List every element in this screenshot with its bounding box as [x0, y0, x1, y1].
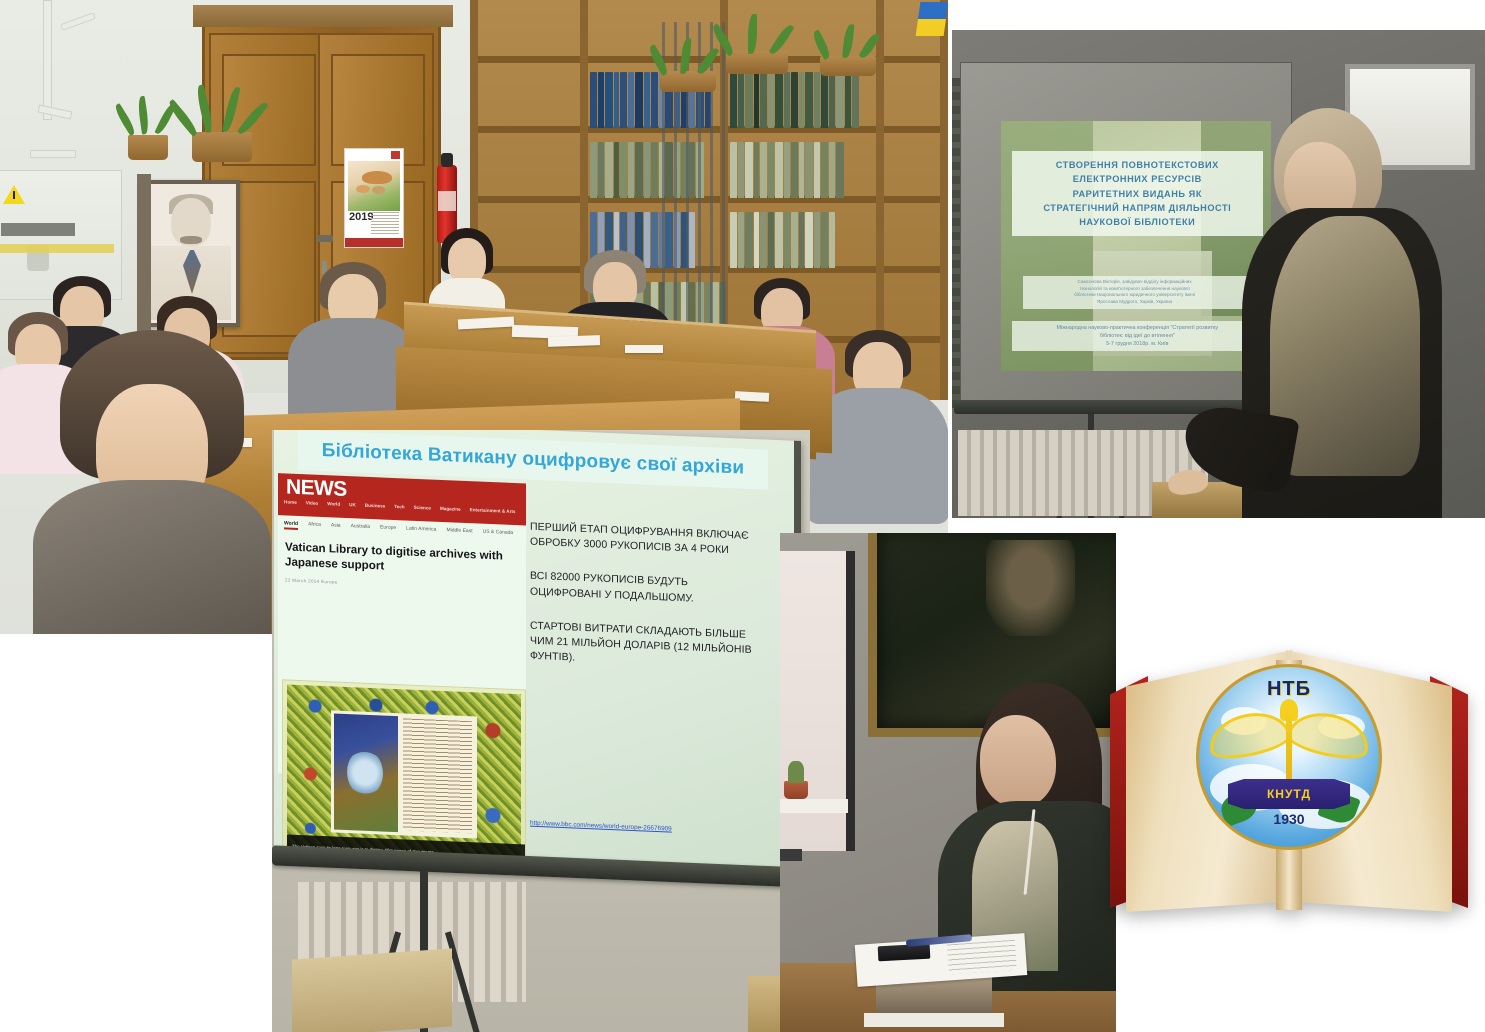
- yellow-wall-stripe: [0, 244, 114, 253]
- table: [292, 948, 452, 1032]
- subnav-item-europe[interactable]: Europe: [380, 524, 396, 534]
- extinguisher-valve: [441, 153, 453, 167]
- ntb-knutd-logo: НТБ КНУТД 1930: [1108, 624, 1470, 932]
- window-latch[interactable]: [780, 849, 802, 861]
- news-primary-nav: Home Video World UK Business Tech Scienc…: [284, 499, 522, 514]
- potted-plant: [726, 20, 788, 74]
- bbc-news-screenshot: NEWS Home Video World UK Business Tech S…: [278, 473, 526, 783]
- news-byline: 22 March 2014 Europe: [285, 577, 338, 584]
- succulent-plant: [788, 761, 804, 783]
- potted-plant: [128, 100, 168, 160]
- subnav-item[interactable]: Asia: [331, 522, 341, 531]
- slide-title-line: СТРАТЕГІЧНИЙ НАПРЯМ ДІЯЛЬНОСТІ: [1016, 201, 1259, 215]
- potted-plant: [820, 28, 876, 76]
- plant-pot: [820, 56, 876, 76]
- wall-pipe: [43, 0, 52, 120]
- photo-collage: 2019: [0, 0, 1485, 1032]
- window: [780, 551, 855, 851]
- door-handle[interactable]: [317, 235, 333, 242]
- subnav-item[interactable]: Middle East: [446, 527, 472, 537]
- portrait-moustache: [180, 236, 202, 244]
- nav-item[interactable]: Home: [284, 499, 297, 505]
- slide-title-line: НАУКОВОЇ БІБЛІОТЕКИ: [1016, 215, 1259, 229]
- painting-figure: [986, 540, 1075, 636]
- projected-slide: СТВОРЕННЯ ПОВНОТЕКСТОВИХ ЕЛЕКТРОННИХ РЕС…: [1001, 121, 1271, 371]
- book-row: [730, 72, 870, 128]
- door-lintel: [193, 5, 453, 27]
- slide-paragraph: ПЕРШИЙ ЕТАП ОЦИФРУВАННЯ ВКЛЮЧАЄ ОБРОБКУ …: [530, 520, 760, 560]
- subnav-item[interactable]: US & Canada: [483, 529, 514, 539]
- person-foreground: [36, 330, 268, 634]
- plant-pot: [726, 51, 788, 74]
- manuscript-page: [331, 711, 476, 838]
- kitten-illustration: [356, 185, 370, 193]
- slide-body-text: ПЕРШИЙ ЕТАП ОЦИФРУВАННЯ ВКЛЮЧАЄ ОБРОБКУ …: [530, 520, 760, 693]
- plant-leaf: [680, 38, 691, 75]
- subnav-item[interactable]: Latin America: [406, 525, 436, 535]
- news-logo: NEWS: [286, 475, 347, 502]
- listener-face: [980, 715, 1056, 807]
- library-emblem: НТБ КНУТД 1930: [1196, 664, 1382, 850]
- emblem-ntb-text: НТБ: [1199, 678, 1379, 701]
- plant-leaf: [137, 96, 150, 135]
- plant-pot: [192, 132, 252, 162]
- slide-author-block: Самсонова Вікторія, завідувач відділу ін…: [1023, 276, 1247, 309]
- photo-speaker-projector: СТВОРЕННЯ ПОВНОТЕКСТОВИХ ЕЛЕКТРОННИХ РЕС…: [952, 30, 1485, 518]
- paper-sheet: [625, 345, 663, 353]
- slide-paragraph: СТАРТОВІ ВИТРАТИ СКЛАДАЮТЬ БІЛЬШЕ ЧИМ 21…: [530, 619, 760, 674]
- paper-text-lines: [947, 940, 1017, 975]
- photo-listener: [780, 533, 1116, 1032]
- subnav-item[interactable]: Australia: [351, 523, 370, 533]
- slide-title: СТВОРЕННЯ ПОВНОТЕКСТОВИХ ЕЛЕКТРОННИХ РЕС…: [1012, 151, 1263, 236]
- kitten-illustration: [372, 186, 385, 194]
- manuscript-miniature: [334, 713, 398, 832]
- manuscript-image: The Vatican says its long-term aim is to…: [282, 679, 526, 869]
- slide-title-line: СТВОРЕННЯ ПОВНОТЕКСТОВИХ: [1016, 158, 1259, 172]
- emblem-ribbon-text: КНУТД: [1228, 779, 1350, 810]
- book-row: [730, 142, 870, 198]
- nav-item[interactable]: World: [327, 501, 340, 507]
- window-sill: [780, 799, 848, 813]
- slide-conference-line: 5-7 грудня 2018р. м. Київ: [1016, 340, 1259, 348]
- potted-plant: [192, 90, 252, 162]
- nav-item[interactable]: Business: [365, 503, 385, 509]
- slide-conference-line: Міжнародна науково-практична конференція…: [1016, 324, 1259, 332]
- emblem-ribbon: КНУТД: [1228, 779, 1350, 810]
- nav-item[interactable]: Tech: [394, 504, 404, 509]
- open-book-graphic: НТБ КНУТД 1930: [1108, 624, 1470, 932]
- nav-item[interactable]: Science: [414, 505, 431, 511]
- plant-pot: [660, 71, 716, 92]
- nav-item[interactable]: Magazine: [440, 506, 461, 512]
- subnav-item[interactable]: Africa: [308, 521, 321, 531]
- slide-title-line: ЕЛЕКТРОННИХ РЕСУРСІВ: [1016, 172, 1259, 186]
- slide-source-link[interactable]: http://www.bbc.com/news/world-europe-266…: [530, 820, 760, 837]
- plant-pot: [128, 135, 168, 160]
- slide-conference-block: Міжнародна науково-практична конференція…: [1012, 321, 1263, 351]
- manuscript-halo: [347, 749, 383, 797]
- calendar-year: 2019: [349, 211, 373, 223]
- slide-title-line: РАРИТЕТНИХ ВИДАНЬ ЯК: [1016, 187, 1259, 201]
- plant-leaf: [842, 24, 855, 59]
- paper-sheet: [548, 335, 600, 347]
- slide-author-line: Ярослава Мудрого, Харків, Україна: [1027, 299, 1243, 306]
- ukraine-flag: [916, 2, 948, 36]
- nav-item[interactable]: Entertainment & Arts: [470, 507, 516, 514]
- slide-author-line: Самсонова Вікторія, завідувач відділу ін…: [1027, 279, 1243, 286]
- news-masthead: NEWS Home Video World UK Business Tech S…: [278, 473, 526, 525]
- subnav-item-world[interactable]: World: [284, 520, 298, 530]
- slide-author-line: технологій та комп'ютерного забезпечення…: [1027, 286, 1243, 293]
- book-row: [730, 212, 870, 268]
- slide-conference-line: бібліотек: від ідеї до втілення": [1016, 332, 1259, 340]
- plant-leaf: [748, 14, 757, 54]
- projection-screen-vatican: Бібліотека Ватикану оцифровує свої архів…: [274, 430, 801, 879]
- calendar-logo-icon: [391, 151, 400, 159]
- manuscript-text-column: [403, 719, 473, 833]
- potted-plant: [660, 42, 716, 92]
- wall-pipe: [30, 150, 76, 158]
- extinguisher-label: [438, 191, 456, 211]
- plant-leaf: [195, 84, 215, 133]
- slide-header-text: Бібліотека Ватикану оцифровує свої архів…: [322, 440, 744, 480]
- calendar-footer: [345, 238, 403, 247]
- plant-pot: [784, 781, 808, 799]
- wall-calendar-2019: 2019: [344, 148, 404, 248]
- mobile-phone[interactable]: [878, 944, 931, 962]
- calendar-grid: [371, 212, 399, 234]
- photo-vatican-slide: Бібліотека Ватикану оцифровує свої архів…: [272, 430, 810, 1032]
- nav-item[interactable]: Video: [306, 500, 318, 506]
- emblem-wing-right-icon: [1285, 706, 1374, 764]
- calendar-illustration: [348, 161, 400, 211]
- nav-item[interactable]: UK: [349, 502, 356, 507]
- slide-author-line: бібліотеки Національного юридичного унів…: [1027, 292, 1243, 299]
- plant-leaf: [222, 86, 240, 133]
- warning-triangle-icon: [3, 185, 25, 204]
- news-headline: Vatican Library to digitise archives wit…: [285, 539, 516, 579]
- emblem-year: 1930: [1199, 811, 1379, 827]
- slide-paragraph: ВСІ 82000 РУКОПИСІВ БУДУТЬ ОЦИФРОВАНІ У …: [530, 569, 760, 609]
- cat-illustration: [362, 171, 392, 184]
- electrical-box-label: [1, 223, 75, 236]
